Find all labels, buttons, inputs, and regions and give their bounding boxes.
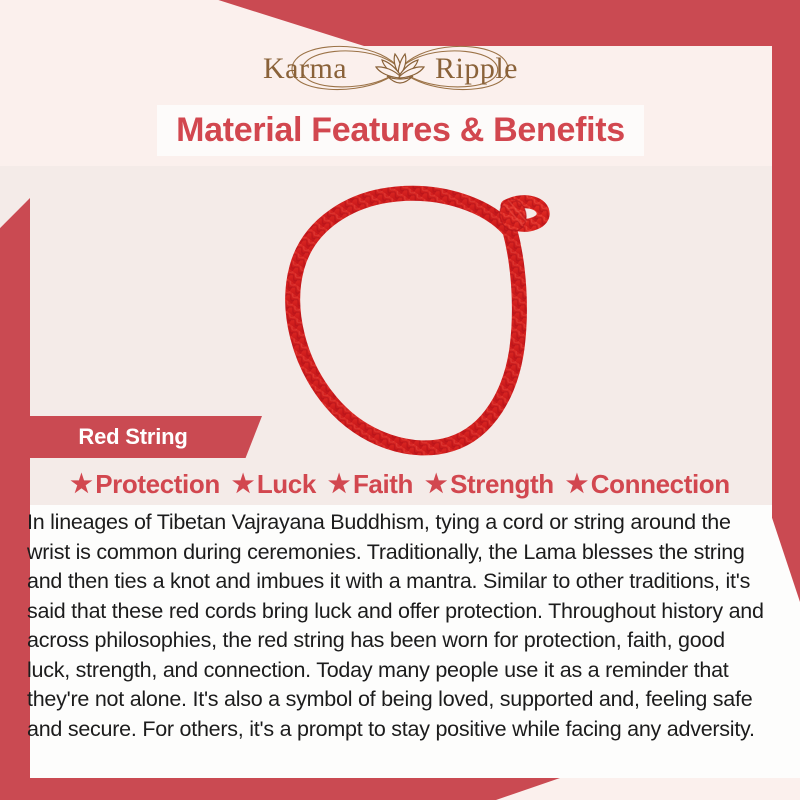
- star-icon: ★: [328, 472, 350, 497]
- benefits-list: ★ Protection ★ Luck ★ Faith ★ Strength ★…: [30, 464, 770, 504]
- page-title: Material Features & Benefits: [157, 105, 644, 156]
- star-icon: ★: [566, 472, 588, 497]
- bracelet-illustration: [255, 168, 585, 468]
- benefit-label: Connection: [591, 469, 730, 500]
- material-features-infographic: Karma Ripple Material Features & Benefit…: [0, 0, 800, 800]
- bracelet-cord-shadow: [293, 193, 520, 448]
- material-tag-label: Red String: [27, 416, 239, 458]
- benefit-label: Luck: [257, 469, 316, 500]
- benefit-label: Protection: [95, 469, 220, 500]
- benefit-label: Strength: [450, 469, 554, 500]
- benefit-item-luck: ★ Luck: [226, 469, 322, 500]
- product-photo-red-string-bracelet: [255, 168, 585, 468]
- benefit-item-faith: ★ Faith: [322, 469, 419, 500]
- star-icon: ★: [232, 472, 254, 497]
- benefit-item-protection: ★ Protection: [64, 469, 226, 500]
- star-icon: ★: [425, 472, 447, 497]
- benefit-label: Faith: [353, 469, 413, 500]
- decorative-right-red-bar: [772, 0, 800, 602]
- description-paragraph: In lineages of Tibetan Vajrayana Buddhis…: [27, 508, 773, 744]
- benefit-item-connection: ★ Connection: [560, 469, 736, 500]
- benefit-item-strength: ★ Strength: [419, 469, 560, 500]
- star-icon: ★: [70, 472, 92, 497]
- decorative-left-red-bar: [0, 198, 30, 800]
